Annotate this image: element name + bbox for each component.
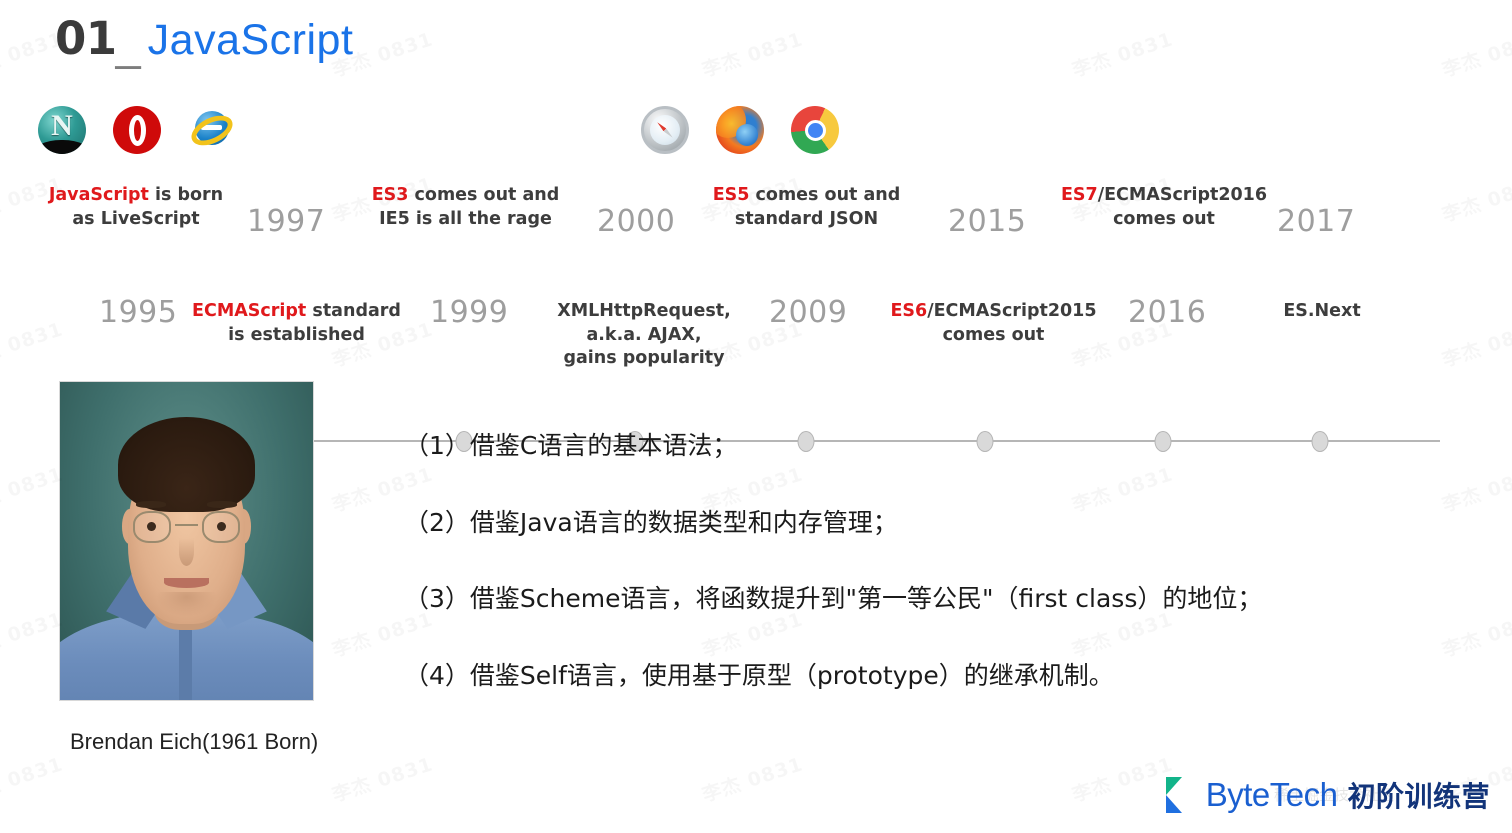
timeline-year-below: 2016 (1128, 295, 1206, 330)
brand-chinese-name: 初阶训练营 (1347, 775, 1490, 815)
history-timeline: JavaScript is born as LiveScript ES3 com… (0, 175, 1512, 375)
timeline-highlight: ES7 (1061, 185, 1098, 205)
slide-root: 李杰 0831李杰 0831李杰 0831李杰 0831李杰 0831李杰 08… (0, 0, 1512, 833)
timeline-text-line2: comes out (1053, 208, 1275, 232)
watermark-text: 李杰 0831 (0, 750, 66, 808)
watermark-text: 李杰 0831 (328, 750, 436, 808)
timeline-highlight: ES6 (890, 301, 927, 321)
timeline-entry-above: JavaScript is born as LiveScript (36, 184, 236, 231)
timeline-text-line2: a.k.a. AJAX, (524, 324, 764, 348)
timeline-text: ES.Next (1283, 301, 1360, 321)
safari-icon (641, 106, 689, 154)
list-item: （1）借鉴C语言的基本语法； (404, 430, 1464, 463)
timeline-text: XMLHttpRequest, (557, 301, 731, 321)
timeline-text: comes out and (749, 185, 900, 205)
watermark-text: 李杰 0831 (698, 750, 806, 808)
timeline-year-below: 1995 (99, 295, 177, 330)
watermark-text: 李杰 0831 (0, 605, 66, 663)
title-number: 01 (55, 12, 117, 65)
timeline-text-line2: comes out (872, 324, 1115, 348)
timeline-text-line2: IE5 is all the rage (358, 208, 573, 232)
timeline-entry-above: ES3 comes out and IE5 is all the rage (358, 184, 573, 231)
watermark-text: 李杰 0831 (1068, 750, 1176, 808)
watermark-text: 李杰 0831 (1068, 25, 1176, 83)
title-name: JavaScript (148, 16, 354, 64)
timeline-entry-below: ES6/ECMAScript2015 comes out (872, 300, 1115, 347)
netscape-icon-letter: N (38, 109, 86, 143)
timeline-year-below: 2009 (769, 295, 847, 330)
timeline-text-line2: is established (175, 324, 418, 348)
timeline-highlight: ECMAScript (192, 301, 306, 321)
timeline-text-line2: as LiveScript (36, 208, 236, 232)
timeline-text-line2: standard JSON (704, 208, 909, 232)
netscape-icon: N (38, 106, 86, 154)
portrait-photo (59, 381, 314, 701)
chrome-icon (791, 106, 839, 154)
bullet-list: （1）借鉴C语言的基本语法； （2）借鉴Java语言的数据类型和内存管理； （3… (404, 430, 1464, 736)
firefox-icon (716, 106, 764, 154)
timeline-year-below: 1999 (430, 295, 508, 330)
list-item: （2）借鉴Java语言的数据类型和内存管理； (404, 507, 1464, 540)
brand-logo: ByteTech 初阶训练营 (1166, 775, 1490, 815)
watermark-text: 李杰 0831 (698, 25, 806, 83)
timeline-entry-above: ES7/ECMAScript2016 comes out (1053, 184, 1275, 231)
timeline-text: comes out and (408, 185, 559, 205)
timeline-entry-above: ES5 comes out and standard JSON (704, 184, 909, 231)
timeline-year-above: 1997 (247, 204, 325, 239)
timeline-year-above: 2015 (948, 204, 1026, 239)
brand-name: ByteTech (1206, 776, 1338, 814)
watermark-text: 李杰 0831 (0, 460, 66, 518)
browser-icons-right (641, 106, 839, 154)
portrait-caption: Brendan Eich(1961 Born) (70, 726, 350, 758)
browser-icons-left: N (38, 106, 236, 154)
list-item: （3）借鉴Scheme语言，将函数提升到"第一等公民"（first class）… (404, 583, 1464, 616)
timeline-highlight: ES3 (372, 185, 409, 205)
timeline-highlight: JavaScript (49, 185, 149, 205)
internet-explorer-icon (188, 106, 236, 154)
page-title: 01_JavaScript (55, 16, 353, 62)
timeline-year-above: 2017 (1277, 204, 1355, 239)
timeline-text: /ECMAScript2016 (1098, 185, 1267, 205)
timeline-text: standard (306, 301, 401, 321)
timeline-text-line3: gains popularity (524, 347, 764, 371)
timeline-highlight: ES5 (713, 185, 750, 205)
timeline-text: /ECMAScript2015 (927, 301, 1096, 321)
watermark-text: 李杰 0831 (1438, 25, 1512, 83)
timeline-text: is born (149, 185, 223, 205)
timeline-entry-below: ECMAScript standard is established (175, 300, 418, 347)
chevron-left-icon (1166, 777, 1196, 813)
timeline-year-above: 2000 (597, 204, 675, 239)
timeline-entry-below: XMLHttpRequest, a.k.a. AJAX, gains popul… (524, 300, 764, 371)
title-separator: _ (116, 19, 141, 70)
opera-icon (113, 106, 161, 154)
list-item: （4）借鉴Self语言，使用基于原型（prototype）的继承机制。 (404, 660, 1464, 693)
timeline-entry-below: ES.Next (1247, 300, 1397, 324)
